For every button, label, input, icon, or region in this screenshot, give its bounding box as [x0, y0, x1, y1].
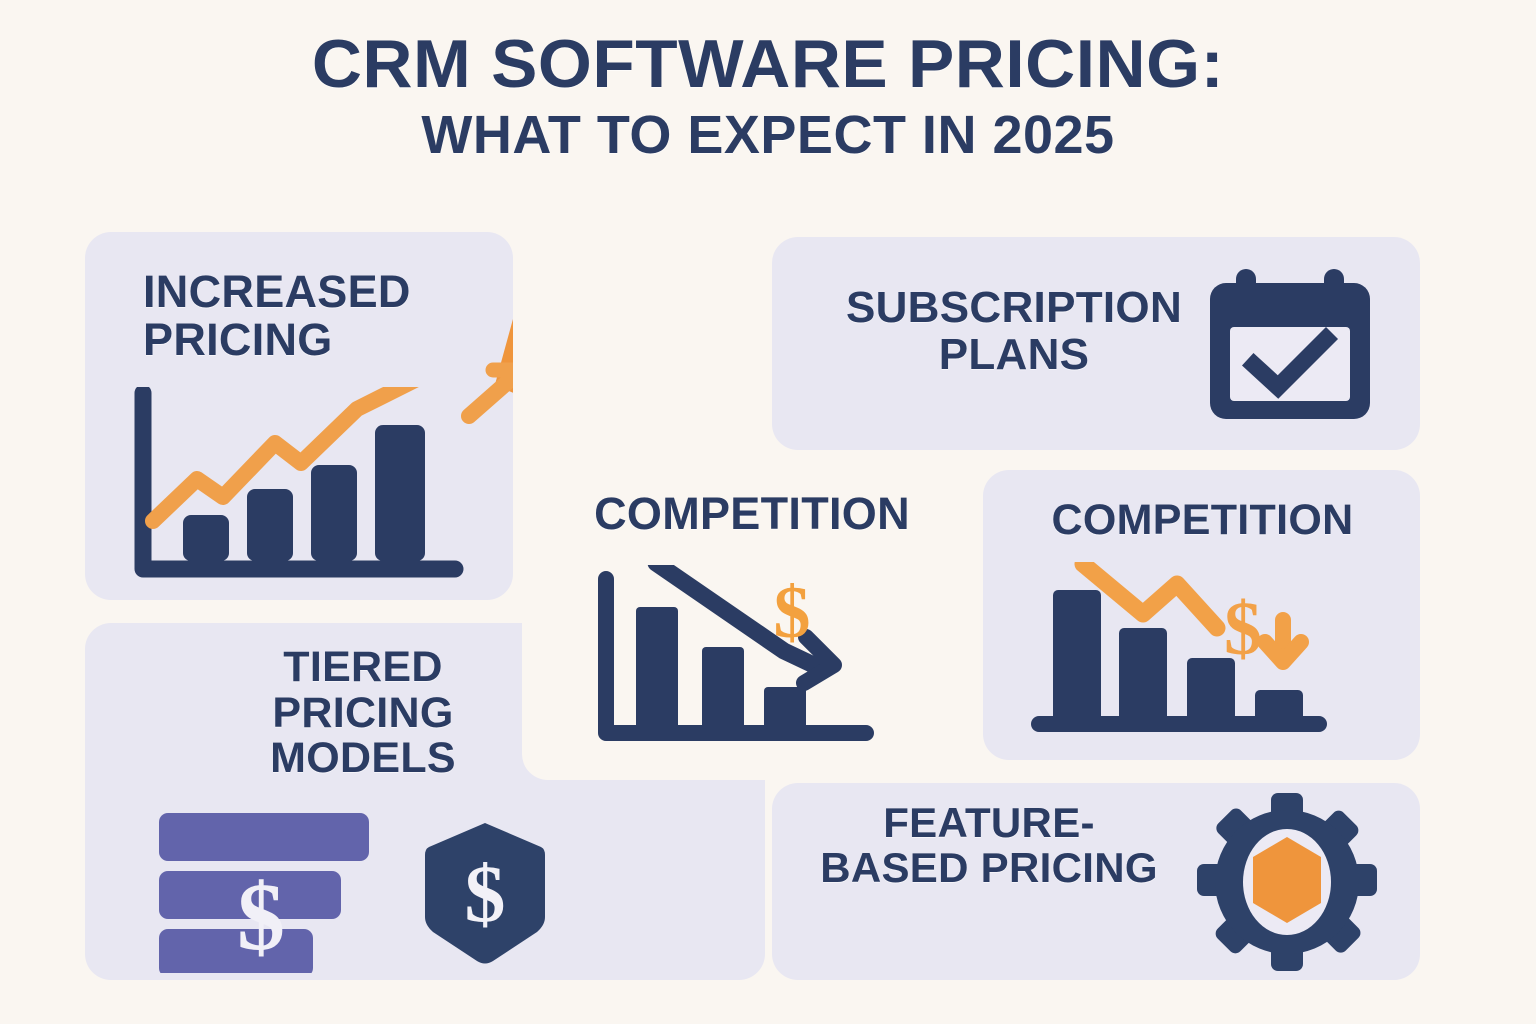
dollar-down-arrow-icon: $: [1224, 587, 1262, 671]
hexagon-dollar-badge-icon: $: [423, 821, 547, 965]
svg-text:$: $: [465, 848, 506, 939]
page-title: CRM SOFTWARE PRICING: WHAT TO EXPECT IN …: [0, 28, 1536, 168]
card-increased-pricing[interactable]: INCREASED PRICING $: [85, 232, 513, 600]
page-title-line-1: CRM SOFTWARE PRICING:: [0, 28, 1536, 100]
growth-bar-chart-icon: [125, 387, 465, 587]
dollar-sign-icon: $: [774, 572, 811, 654]
calendar-check-icon: [1204, 269, 1376, 421]
declining-bar-chart-icon: $: [1031, 562, 1331, 738]
card-label-increased-pricing: INCREASED PRICING: [143, 268, 473, 363]
page-title-line-2: WHAT TO EXPECT IN 2025: [0, 104, 1536, 168]
card-label-tiered-pricing-models: TIERED PRICING MODELS: [193, 645, 533, 782]
card-competition-center[interactable]: COMPETITION $: [522, 450, 982, 780]
card-subscription-plans[interactable]: SUBSCRIPTION PLANS: [772, 237, 1420, 450]
infographic-canvas: CRM SOFTWARE PRICING: WHAT TO EXPECT IN …: [0, 0, 1536, 1024]
card-feature-based-pricing[interactable]: FEATURE-BASED PRICING: [772, 783, 1420, 980]
card-competition-right[interactable]: COMPETITION $: [983, 470, 1420, 760]
declining-bar-chart-arrow-icon: $: [594, 565, 894, 760]
trend-up-arrowhead-icon: [459, 360, 513, 430]
card-label-competition-right: COMPETITION: [995, 498, 1410, 544]
card-label-subscription-plans: SUBSCRIPTION PLANS: [804, 285, 1224, 378]
svg-text:$: $: [237, 863, 285, 970]
card-label-feature-based-pricing: FEATURE-BASED PRICING: [814, 801, 1164, 890]
card-label-competition-center: COMPETITION: [542, 490, 962, 538]
gear-hexagon-icon: [1197, 793, 1377, 971]
tier-bars-dollar-icon: $: [157, 813, 407, 973]
